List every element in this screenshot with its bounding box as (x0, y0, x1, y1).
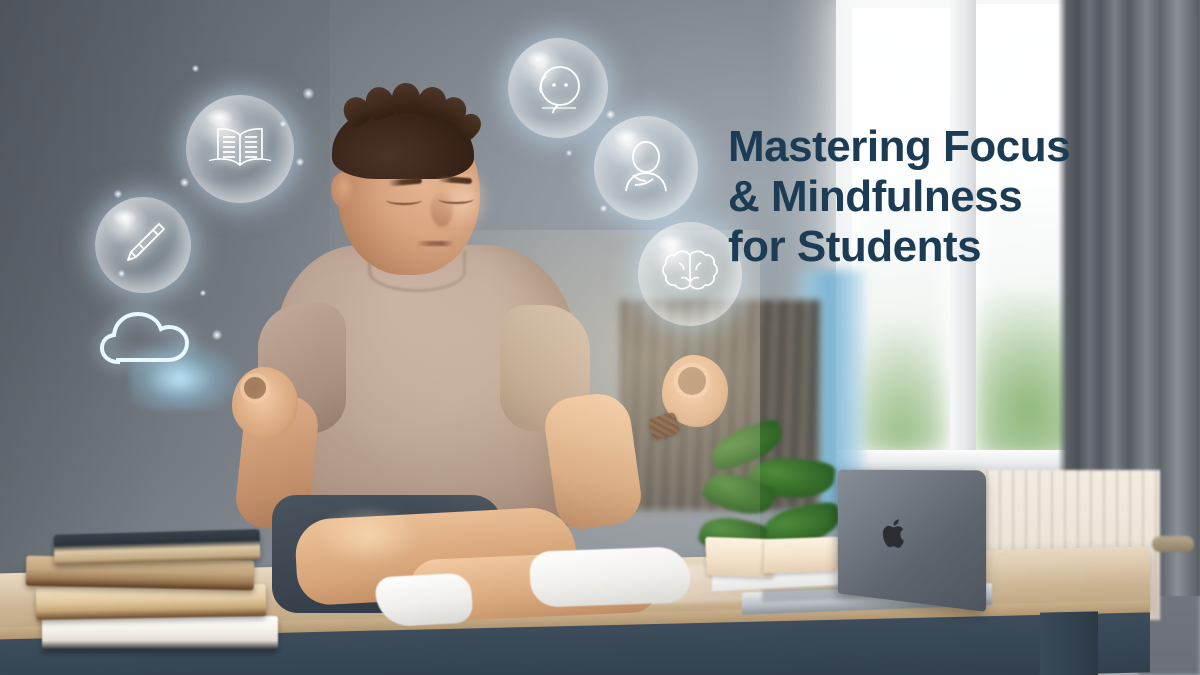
sparkle (118, 270, 125, 277)
sock-left (375, 573, 473, 628)
nose (431, 193, 453, 227)
hair (326, 83, 478, 175)
page-title: Mastering Focus & Mindfulness for Studen… (728, 122, 1168, 272)
person-silhouette-icon (594, 116, 698, 220)
sparkle (212, 330, 222, 340)
brain-icon (638, 222, 742, 326)
bubble-person[interactable] (594, 116, 698, 220)
bubble-brain[interactable] (638, 222, 742, 326)
sparkle (303, 88, 314, 99)
window-foliage-left (852, 324, 950, 454)
calm-face-icon (508, 38, 608, 138)
notebook-page-right (763, 537, 838, 574)
desk-leg (1040, 611, 1098, 675)
hand-left-mudra (232, 367, 298, 439)
sparkle (280, 121, 286, 127)
sparkle (566, 150, 572, 156)
apple-logo-icon (882, 517, 907, 550)
bubble-calm-face[interactable] (508, 38, 608, 138)
laptop-lid[interactable] (838, 470, 986, 612)
knee-highlight (318, 507, 418, 565)
sparkle (192, 65, 199, 72)
sparkle (200, 290, 206, 296)
thought-cloud-icon[interactable] (96, 300, 216, 386)
sparkle (606, 110, 615, 119)
hero-banner: Mastering Focus & Mindfulness for Studen… (0, 0, 1200, 675)
radiator-valve (1152, 536, 1194, 552)
arm-right (541, 390, 645, 533)
book-item (42, 616, 278, 650)
eye-left-closed (386, 195, 422, 205)
sparkle (180, 178, 189, 187)
bubble-book[interactable] (186, 95, 294, 203)
sparkle (296, 158, 304, 166)
title-line-3: for Students (728, 222, 1168, 272)
title-line-1: Mastering Focus (728, 122, 1168, 172)
wristwatch (648, 412, 681, 441)
open-book-icon (186, 95, 294, 203)
bubble-pencil[interactable] (95, 197, 191, 293)
sparkle (114, 190, 122, 198)
sock-right (529, 546, 691, 608)
title-line-2: & Mindfulness (728, 172, 1168, 222)
mouth (416, 241, 454, 246)
pencil-icon (95, 197, 191, 293)
sparkle (600, 205, 607, 212)
ear (331, 173, 353, 207)
